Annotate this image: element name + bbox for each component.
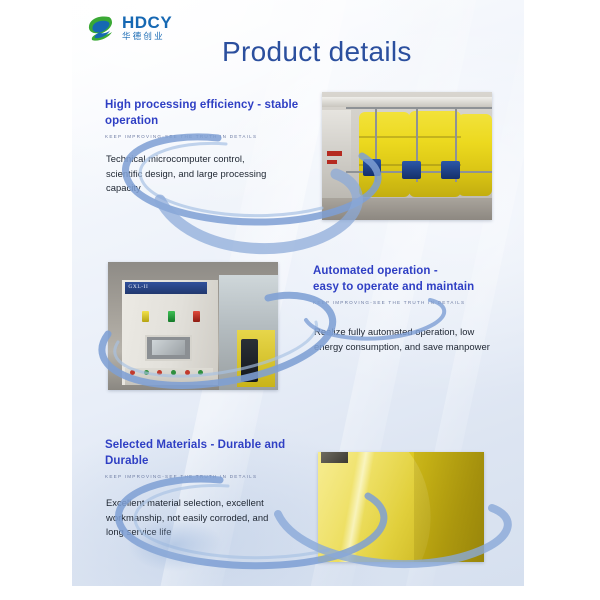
photo2-button-4 bbox=[171, 370, 176, 375]
photo2-hmi-display bbox=[152, 340, 184, 355]
photo3-corner-fitting bbox=[321, 452, 348, 463]
photo1-floor bbox=[322, 198, 492, 220]
section-automated-operation: Automated operation - easy to operate an… bbox=[313, 264, 513, 315]
section-2-heading: Automated operation - easy to operate an… bbox=[313, 264, 513, 295]
section-1-body: Technical microcomputer control, scienti… bbox=[106, 152, 282, 196]
decor-blob-bottom bbox=[120, 520, 230, 582]
photo1-pump-1 bbox=[363, 159, 382, 177]
photo2-button-6 bbox=[198, 370, 203, 375]
product-details-page: HDCY 华德创业 Product details High processin… bbox=[0, 0, 600, 600]
photo1-ceiling-beam bbox=[322, 97, 492, 107]
photo2-hmi-screen bbox=[145, 335, 192, 361]
photo3-shadow-side bbox=[414, 452, 484, 562]
photo1-tank-1 bbox=[359, 112, 410, 196]
section-3-tagline: KEEP IMPROVING-SEE THE TRUTH IN DETAILS bbox=[105, 474, 315, 479]
page-title: Product details bbox=[222, 36, 412, 68]
logo-wordmark: HDCY 华德创业 bbox=[122, 14, 172, 42]
photo2-button-3 bbox=[157, 370, 162, 375]
section-2-tagline: KEEP IMPROVING-SEE THE TRUTH IN DETAILS bbox=[313, 300, 513, 305]
section-selected-materials: Selected Materials - Durable and Durable… bbox=[105, 438, 315, 489]
section-2-heading-line1: Automated operation - bbox=[313, 265, 438, 277]
section-1-heading: High processing efficiency - stable oper… bbox=[105, 98, 305, 129]
section-1-tagline: KEEP IMPROVING-SEE THE TRUTH IN DETAILS bbox=[105, 134, 305, 139]
brand-logo: HDCY 华德创业 bbox=[86, 14, 172, 42]
section-2-body: Realize fully automated operation, low e… bbox=[314, 325, 490, 354]
photo1-pump-3 bbox=[441, 161, 460, 179]
photo1-left-panel bbox=[322, 110, 351, 207]
photo2-lamp-yellow bbox=[142, 311, 149, 322]
logo-name-cn: 华德创业 bbox=[122, 33, 172, 42]
photo2-button-1 bbox=[130, 370, 135, 375]
photo2-dark-pump bbox=[241, 339, 258, 383]
hdcy-swoosh-logo-icon bbox=[86, 14, 116, 42]
photo1-red-marker-1 bbox=[327, 151, 342, 156]
photo1-tank-3 bbox=[458, 114, 492, 196]
photo2-lamp-red bbox=[193, 311, 200, 322]
photo-material-closeup bbox=[318, 452, 484, 562]
section-3-heading: Selected Materials - Durable and Durable bbox=[105, 438, 315, 469]
photo2-button-5 bbox=[185, 370, 190, 375]
logo-name-en: HDCY bbox=[122, 14, 172, 31]
photo1-pipe-horizontal-top bbox=[346, 107, 492, 109]
photo-control-cabinet: GXL-II bbox=[108, 262, 278, 390]
section-2-heading-line2: easy to operate and maintain bbox=[313, 281, 474, 293]
photo2-cabinet-label-text: GXL-II bbox=[128, 284, 148, 290]
section-high-processing-efficiency: High processing efficiency - stable oper… bbox=[105, 98, 305, 149]
photo2-lamp-green bbox=[168, 311, 175, 322]
photo2-button-2 bbox=[144, 370, 149, 375]
photo1-red-marker-2 bbox=[327, 160, 337, 164]
photo1-pump-2 bbox=[402, 161, 421, 179]
photo-dosing-tanks bbox=[322, 92, 492, 220]
